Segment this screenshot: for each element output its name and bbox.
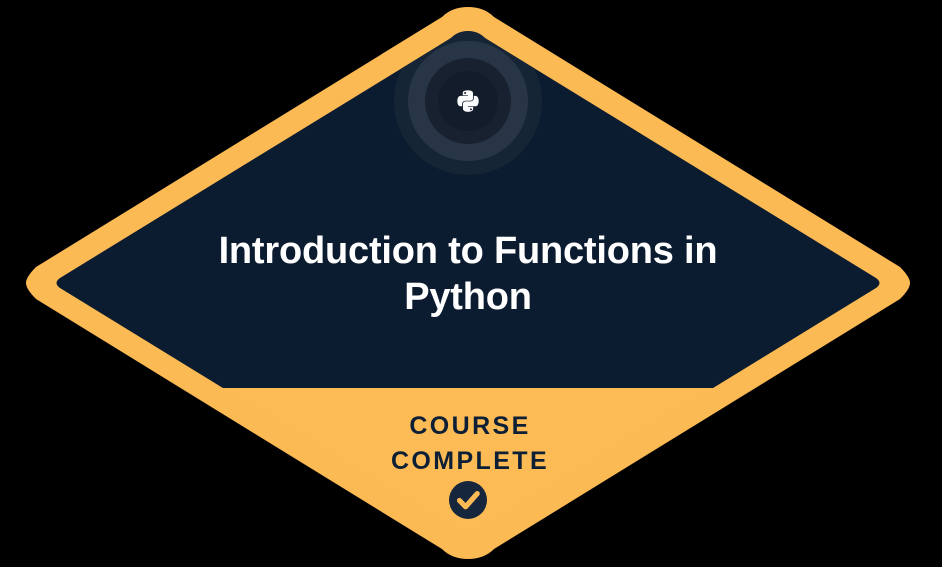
badge-title-line-2: Python [404, 276, 532, 318]
logo-disc [438, 71, 498, 131]
badge-title-line-1: Introduction to Functions in [219, 230, 718, 272]
check-circle-icon [449, 481, 487, 519]
badge-canvas: Introduction to Functions in Python COUR… [0, 0, 942, 567]
status-line-2: COMPLETE [391, 447, 549, 475]
completion-badge: Introduction to Functions in Python COUR… [0, 0, 942, 567]
check-circle-bg [449, 481, 487, 519]
status-line-1: COURSE [409, 412, 530, 440]
